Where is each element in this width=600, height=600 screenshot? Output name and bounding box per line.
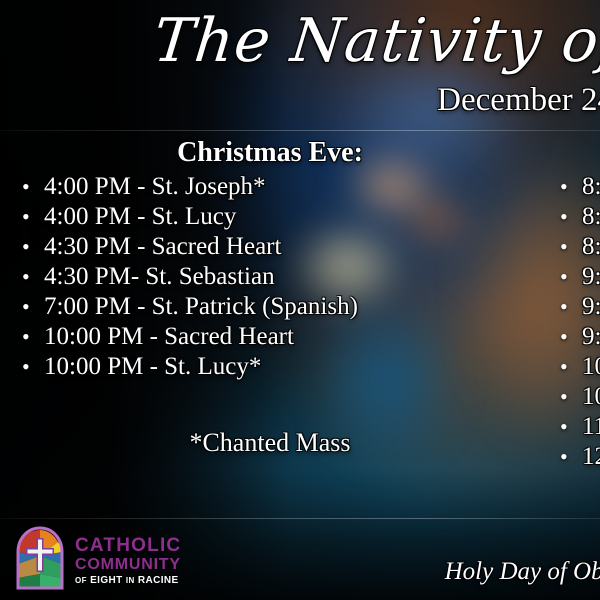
list-item: 9: <box>560 292 600 322</box>
list-item: 4:00 PM - St. Lucy <box>22 202 492 232</box>
list-item: 4:30 PM- St. Sebastian <box>22 262 492 292</box>
list-item: 9: <box>560 322 600 352</box>
list-item: 7:00 PM - St. Patrick (Spanish) <box>22 292 492 322</box>
divider-top <box>0 130 600 131</box>
logo-tagline-in: IN <box>126 576 135 585</box>
logo-tagline-racine: RACINE <box>138 575 179 586</box>
list-item: 8: <box>560 172 600 202</box>
logo-line-community: COMMUNITY <box>75 557 181 573</box>
list-item: 10 <box>560 352 600 382</box>
list-item: 4:30 PM - Sacred Heart <box>22 232 492 262</box>
list-item: 9: <box>560 262 600 292</box>
list-item: 10:00 PM - St. Lucy* <box>22 352 492 382</box>
mass-times-left-column: 4:00 PM - St. Joseph* 4:00 PM - St. Lucy… <box>22 172 492 382</box>
list-item: 11 <box>560 412 600 442</box>
logo-wordmark: CATHOLIC COMMUNITY OF EIGHT IN RACINE <box>75 532 181 586</box>
logo-tagline-eight: EIGHT <box>90 575 123 586</box>
nativity-mass-schedule-poster: The Nativity of December 24 Christmas Ev… <box>0 0 600 600</box>
list-item: 12 <box>560 442 600 472</box>
mass-times-right-column: 8: 8: 8: 9: 9: 9: 10 10 11 12 <box>560 172 600 472</box>
list-item: 4:00 PM - St. Joseph* <box>22 172 492 202</box>
logo-tagline-of: OF <box>75 576 87 585</box>
divider-bottom <box>0 518 600 519</box>
footnote-chanted-mass: *Chanted Mass <box>0 428 540 458</box>
section-heading-christmas-eve: Christmas Eve: <box>0 137 540 169</box>
logo-tagline: OF EIGHT IN RACINE <box>75 576 181 586</box>
page-title: The Nativity of <box>150 6 600 76</box>
logo-line-catholic: CATHOLIC <box>75 536 181 555</box>
list-item: 8: <box>560 232 600 262</box>
parish-logo: CATHOLIC COMMUNITY OF EIGHT IN RACINE <box>12 524 192 594</box>
page-subtitle-date: December 24 <box>437 82 600 119</box>
list-item: 10 <box>560 382 600 412</box>
stained-glass-window-cross-icon <box>12 526 68 592</box>
list-item: 10:00 PM - Sacred Heart <box>22 322 492 352</box>
list-item: 8: <box>560 202 600 232</box>
holy-day-obligation-note: Holy Day of Oblig <box>445 558 600 586</box>
